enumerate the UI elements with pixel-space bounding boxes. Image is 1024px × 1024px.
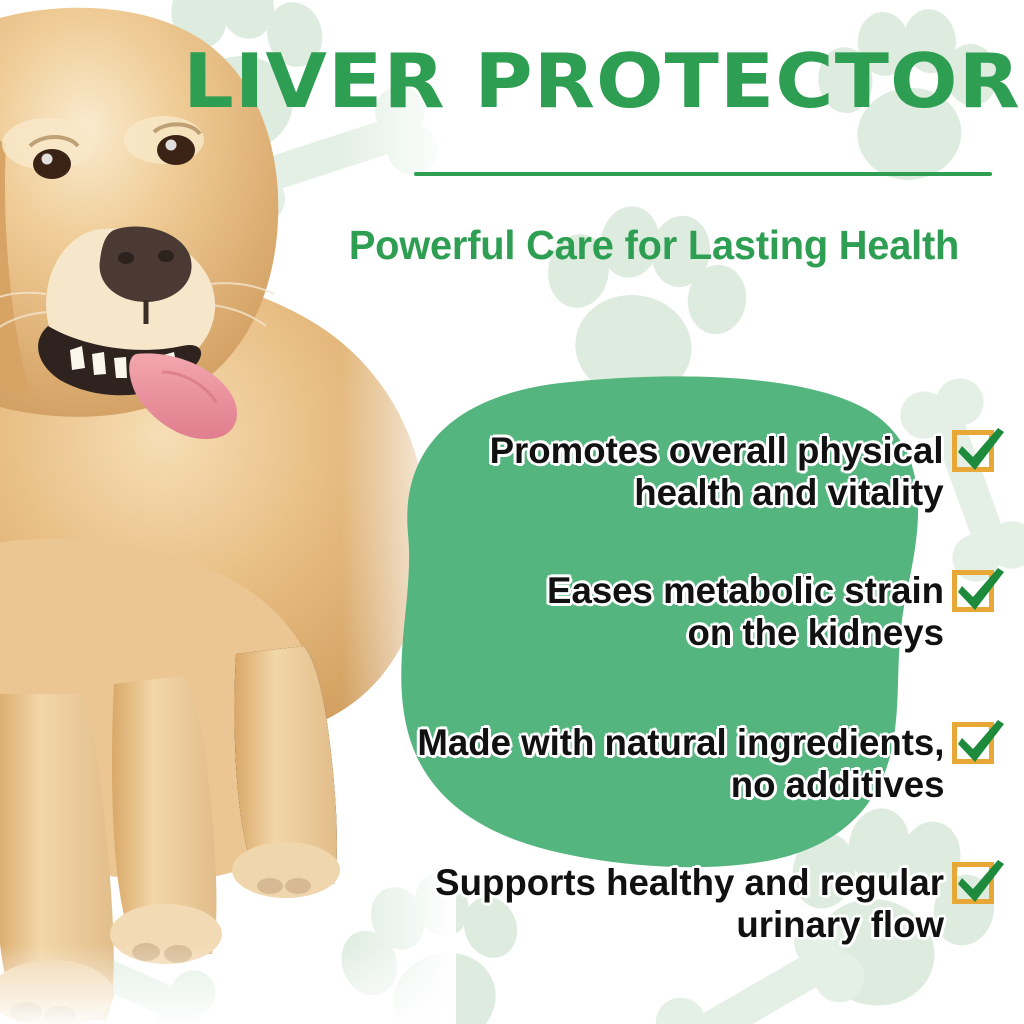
benefit-item: Promotes overall physical health and vit… bbox=[485, 430, 1008, 514]
benefit-label: Made with natural ingredients, no additi… bbox=[417, 722, 944, 806]
benefit-item: Supports healthy and regular urinary flo… bbox=[430, 862, 1008, 946]
page-subtitle: Powerful Care for Lasting Health bbox=[311, 222, 998, 269]
benefit-item: Made with natural ingredients, no additi… bbox=[412, 722, 1008, 806]
benefit-label: Eases metabolic strain on the kidneys bbox=[547, 570, 944, 654]
checkbox-check-icon bbox=[950, 426, 1008, 478]
benefit-label: Promotes overall physical health and vit… bbox=[490, 430, 944, 514]
checkbox-check-icon bbox=[950, 718, 1008, 770]
title-divider bbox=[414, 172, 992, 176]
page-title: LIVER PROTECTOR bbox=[172, 44, 1024, 119]
poster-content: LIVER PROTECTOR Powerful Care for Lastin… bbox=[0, 0, 1024, 1024]
benefit-label: Supports healthy and regular urinary flo… bbox=[435, 862, 944, 946]
checkbox-check-icon bbox=[950, 566, 1008, 618]
checkbox-check-icon bbox=[950, 858, 1008, 910]
benefit-item: Eases metabolic strain on the kidneys bbox=[543, 570, 1008, 654]
liver-protector-poster: LIVER PROTECTOR Powerful Care for Lastin… bbox=[0, 0, 1024, 1024]
